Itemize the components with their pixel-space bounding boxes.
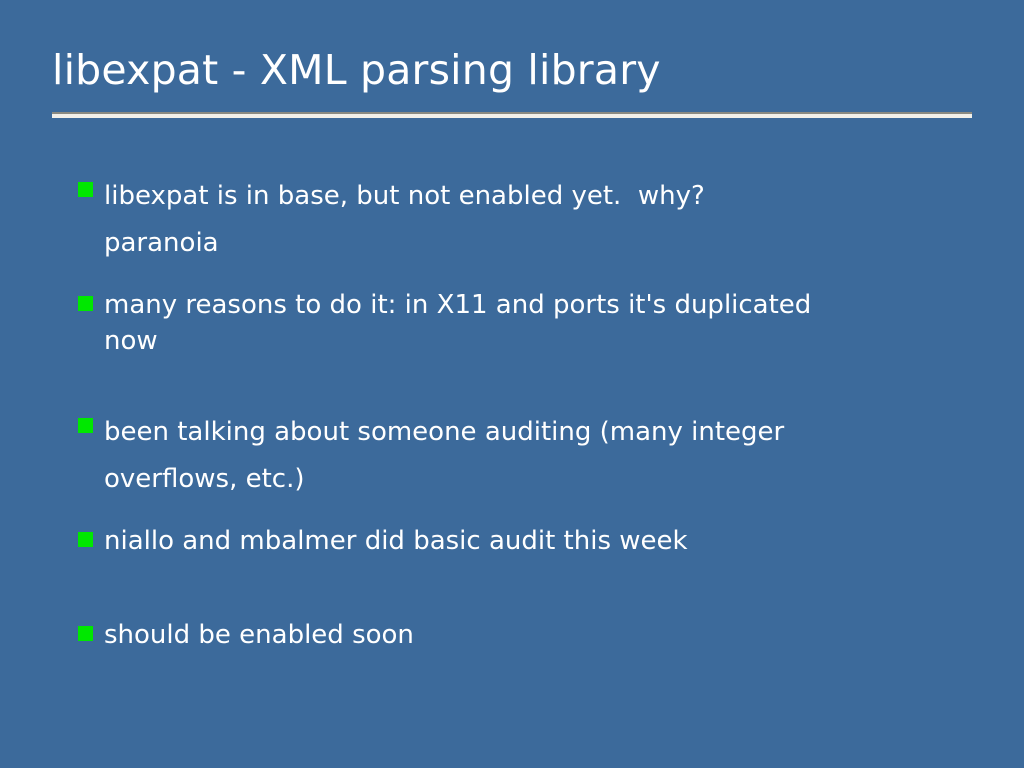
slide-title-block: libexpat - XML parsing library <box>52 44 972 96</box>
bullet-item-label: been talking about someone auditing (man… <box>104 409 978 503</box>
green-square-bullet-icon <box>78 418 93 433</box>
slide-bullet-list: libexpat is in base, but not enabled yet… <box>78 173 978 653</box>
bullet-item: niallo and mbalmer did basic audit this … <box>78 523 978 559</box>
green-square-bullet-icon <box>78 182 93 197</box>
bullet-item-label: many reasons to do it: in X11 and ports … <box>104 287 978 359</box>
green-square-bullet-icon <box>78 532 93 547</box>
bullet-item-label: libexpat is in base, but not enabled yet… <box>104 173 978 267</box>
bullet-item: many reasons to do it: in X11 and ports … <box>78 287 978 359</box>
bullet-item: should be enabled soon <box>78 617 978 653</box>
title-divider <box>52 112 972 118</box>
bullet-item-label: niallo and mbalmer did basic audit this … <box>104 523 978 559</box>
bullet-item: been talking about someone auditing (man… <box>78 409 978 503</box>
green-square-bullet-icon <box>78 296 93 311</box>
bullet-item-label: should be enabled soon <box>104 617 978 653</box>
slide-title: libexpat - XML parsing library <box>52 44 972 96</box>
green-square-bullet-icon <box>78 626 93 641</box>
bullet-item: libexpat is in base, but not enabled yet… <box>78 173 978 267</box>
presentation-slide: libexpat - XML parsing library libexpat … <box>0 0 1024 768</box>
